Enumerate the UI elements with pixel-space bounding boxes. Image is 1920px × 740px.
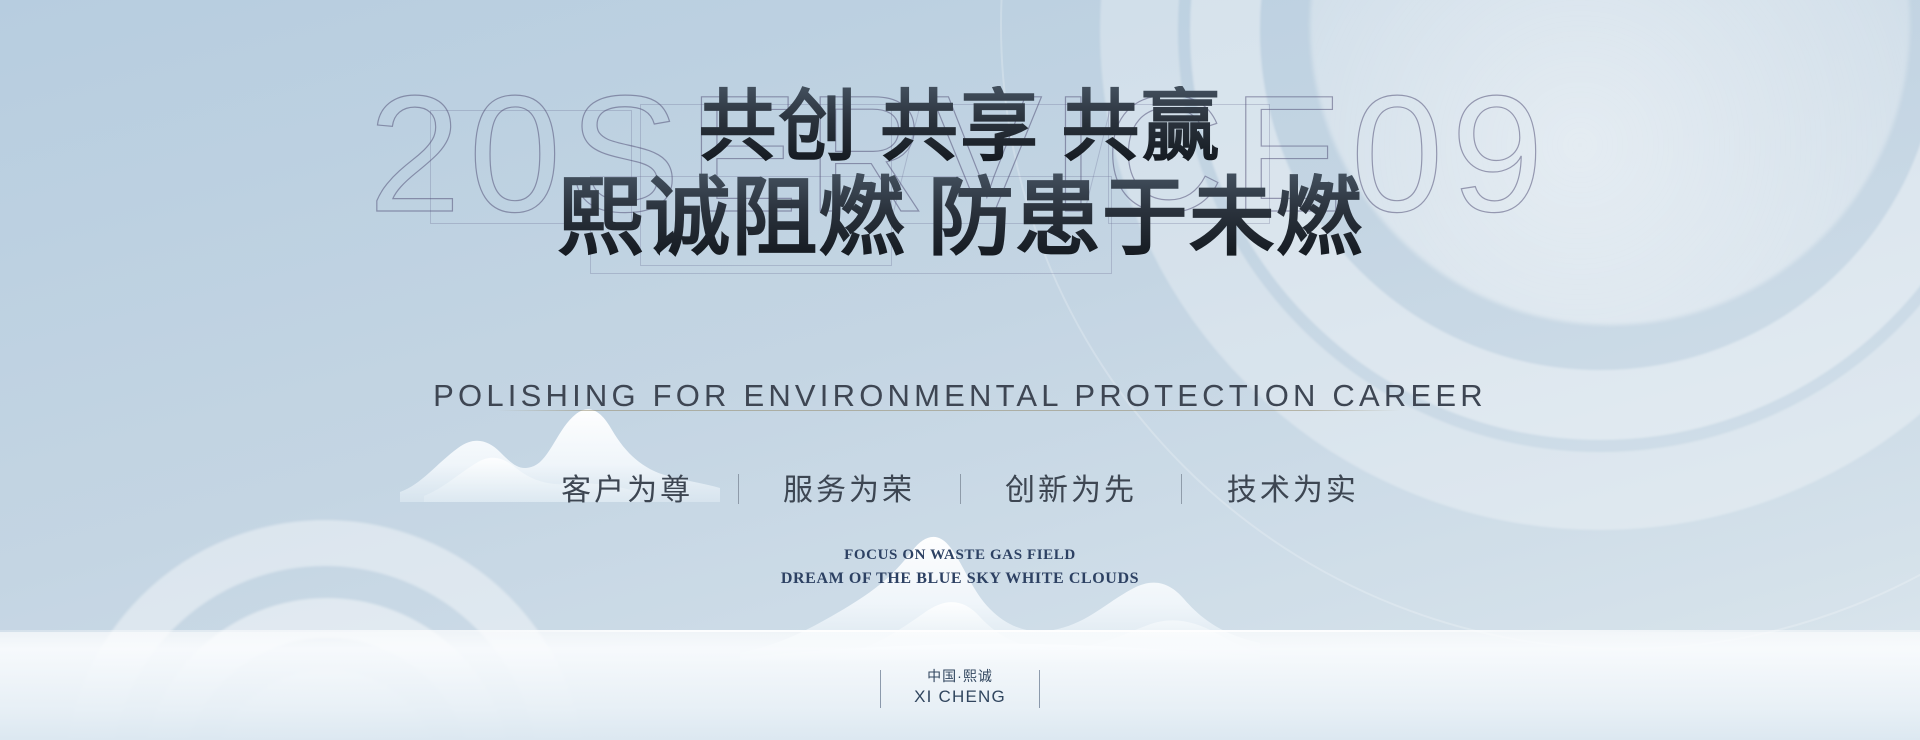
value-separator-2 <box>960 474 961 504</box>
tagline: POLISHING FOR ENVIRONMENTAL PROTECTION C… <box>0 378 1920 414</box>
logo-divider-left-icon <box>880 670 881 708</box>
headline: 共创 共享 共赢 熙诚阻燃 防患于未燃 <box>0 86 1920 264</box>
value-item-3: 创新为先 <box>1005 465 1137 509</box>
values-row: 客户为尊 服务为荣 创新为先 技术为实 <box>0 465 1920 509</box>
serif-subtitle: FOCUS ON WASTE GAS FIELD DREAM OF THE BL… <box>0 545 1920 590</box>
value-separator-1 <box>738 474 739 504</box>
serif-subtitle-line-1: FOCUS ON WASTE GAS FIELD <box>0 545 1920 567</box>
logo-divider-right-icon <box>1039 670 1040 708</box>
value-separator-3 <box>1181 474 1182 504</box>
value-item-2: 服务为荣 <box>783 465 915 509</box>
brand-name-en: XI CHENG <box>914 686 1006 708</box>
brand-name-cn: 中国·熙诚 <box>914 666 1006 686</box>
headline-line-1: 共创 共享 共赢 <box>0 86 1920 169</box>
brand-logo: 中国·熙诚 XI CHENG <box>0 666 1920 708</box>
banner-hero: 20SERVICE09 共创 共享 共赢 熙诚阻燃 防患于未燃 POLISHIN… <box>0 0 1920 740</box>
value-item-1: 客户为尊 <box>561 465 693 509</box>
serif-subtitle-line-2: DREAM OF THE BLUE SKY WHITE CLOUDS <box>0 567 1920 590</box>
brand-logo-inner: 中国·熙诚 XI CHENG <box>880 666 1040 708</box>
tagline-underline <box>497 410 1400 411</box>
value-item-4: 技术为实 <box>1227 465 1359 509</box>
headline-line-2: 熙诚阻燃 防患于未燃 <box>0 173 1920 264</box>
